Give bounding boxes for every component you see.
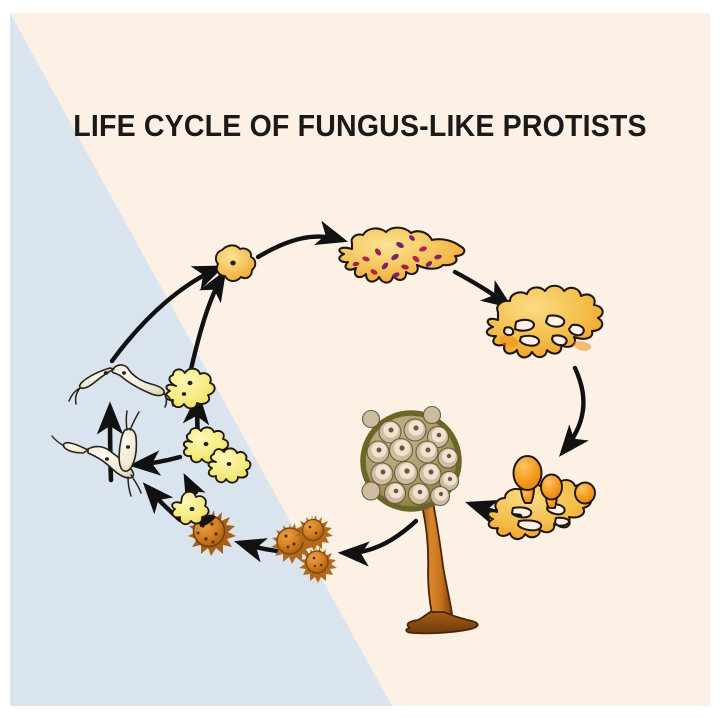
arrow-network-to-sporangia bbox=[563, 368, 583, 452]
zygote-amoeba bbox=[216, 245, 255, 281]
developing-sporangium-tall bbox=[514, 456, 542, 490]
swarm-cell-lower-right bbox=[119, 411, 139, 471]
nucleus bbox=[230, 261, 235, 266]
mature-sporangium bbox=[362, 407, 478, 634]
arrow-plasmodium-to-network bbox=[455, 272, 508, 305]
arrow-swarmlow-to-swarmhigh bbox=[110, 408, 111, 480]
arrow-swarm-to-zygote bbox=[112, 268, 219, 361]
arrow-sporangium-to-spores bbox=[344, 521, 416, 553]
arrow-amoeba-to-zygote bbox=[189, 275, 223, 378]
myxamoeba-lower bbox=[209, 448, 251, 482]
sporangium-stalk bbox=[420, 497, 452, 614]
arrow-zygote-to-plasmodium bbox=[258, 237, 342, 257]
released-spores bbox=[271, 515, 337, 583]
developing-sporangium-medium bbox=[541, 475, 562, 500]
life-cycle-artwork bbox=[0, 0, 720, 720]
multinucleate-plasmodium bbox=[339, 228, 464, 283]
sporangium-spores bbox=[362, 407, 459, 506]
sporangium-base bbox=[406, 612, 477, 633]
swarm-cell-upper bbox=[69, 365, 173, 407]
arrow-amoeba-to-zygote-lower bbox=[186, 478, 196, 492]
arrow-amoeba-to-swarm bbox=[135, 457, 180, 465]
myxamoeba-upper bbox=[166, 369, 215, 409]
sporangia-forming-plasmodium bbox=[488, 456, 595, 539]
amoeboid-cells bbox=[166, 369, 251, 483]
reticulate-plasmodium bbox=[487, 286, 603, 358]
developing-sporangium-short bbox=[575, 483, 595, 504]
life-cycle-diagram: LIFE CYCLE OF FUNGUS-LIKE PROTISTS bbox=[0, 0, 720, 720]
germinating-spore bbox=[172, 492, 236, 556]
